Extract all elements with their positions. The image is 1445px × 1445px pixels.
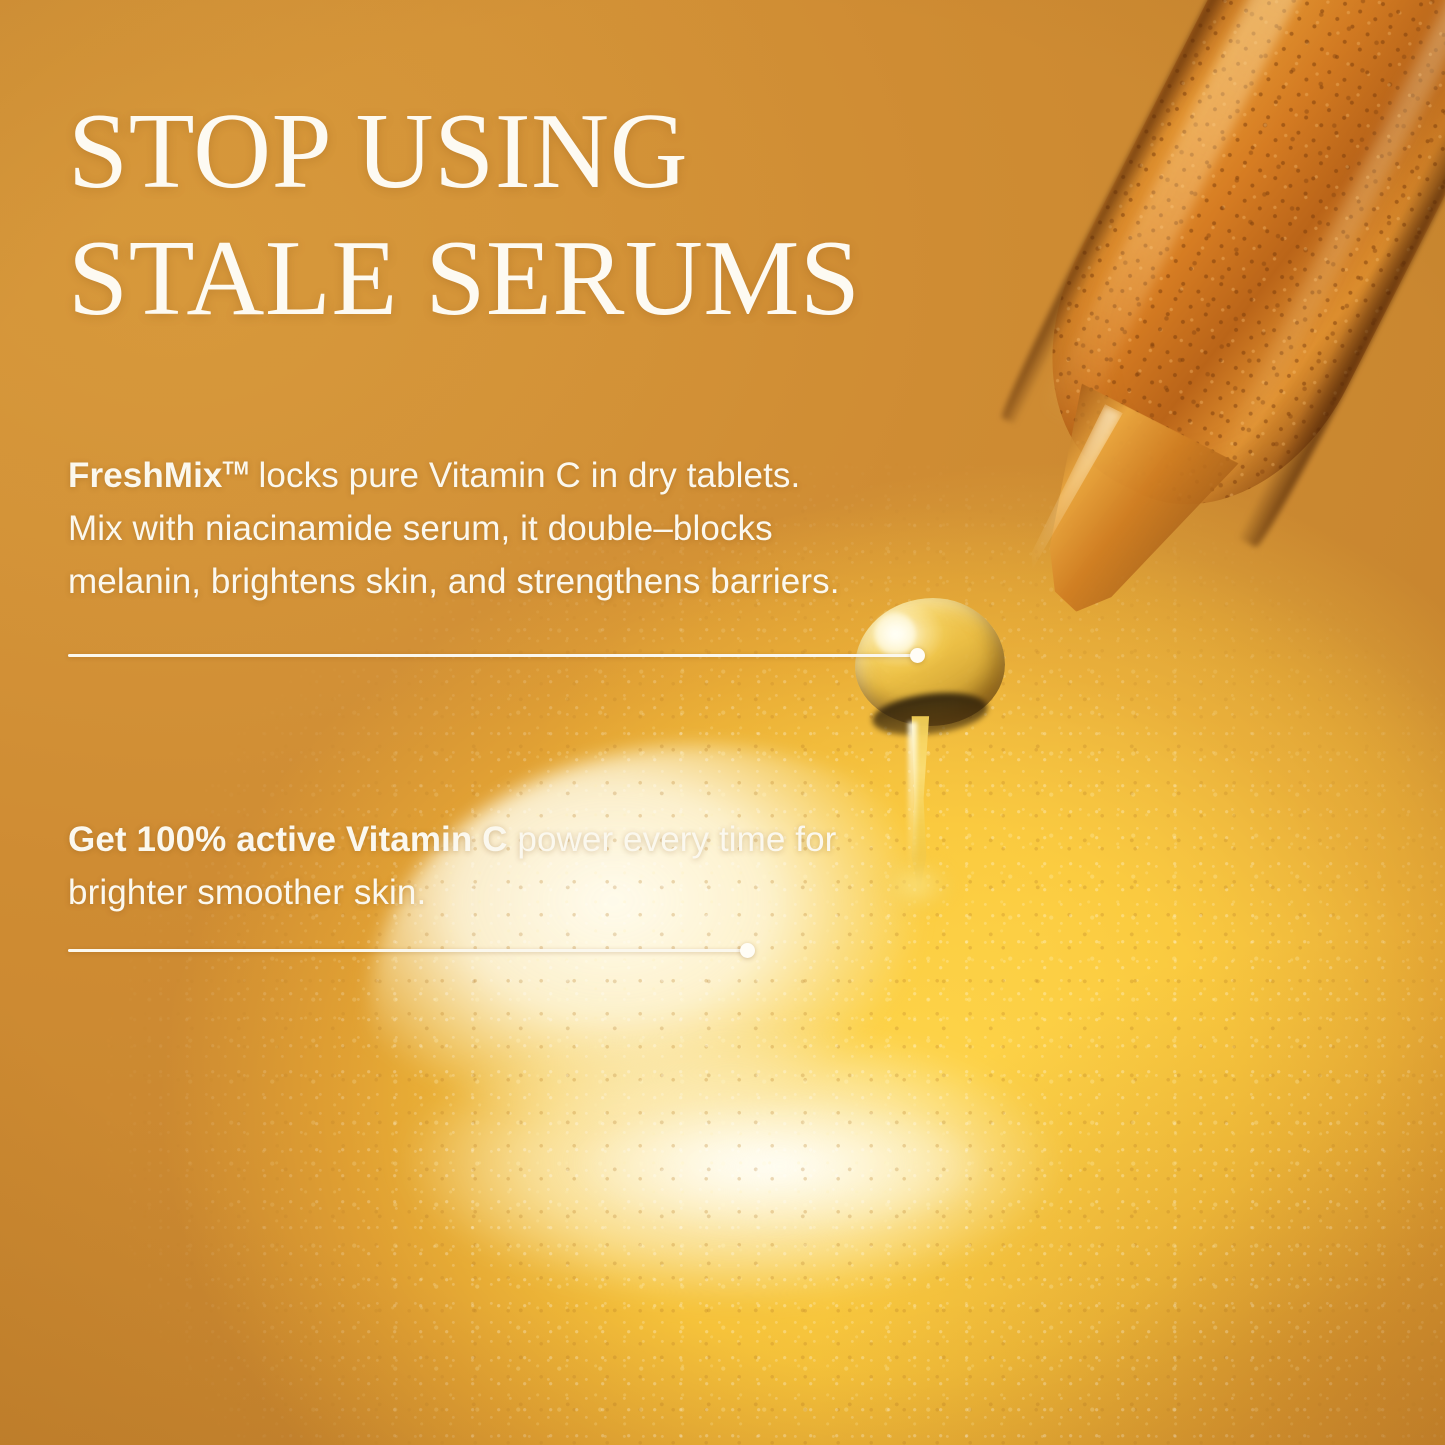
callout-active-vitamin-c-connector-dot (740, 943, 755, 958)
headline: STOP USING STALE SERUMS (68, 88, 1068, 343)
callout-active-vitamin-c-text: Get 100% active Vitamin C power every ti… (68, 813, 858, 919)
ad-creative: STOP USING STALE SERUMS FreshMixTM locks… (0, 0, 1445, 1445)
headline-line-1: STOP USING (68, 92, 688, 211)
callout-freshmix-text: FreshMixTM locks pure Vitamin C in dry t… (68, 449, 858, 609)
callout-freshmix-connector-dot (910, 648, 925, 663)
trademark-symbol: TM (222, 458, 248, 478)
callout-freshmix-bold: FreshMix (68, 456, 222, 495)
headline-line-2: STALE SERUMS (68, 215, 1068, 342)
callout-active-vitamin-c-bold: Get 100% active Vitamin C (68, 820, 508, 859)
callout-freshmix-connector-line (68, 654, 913, 657)
callout-active-vitamin-c-connector-line (68, 949, 743, 952)
ad-content: STOP USING STALE SERUMS FreshMixTM locks… (0, 0, 1445, 1445)
